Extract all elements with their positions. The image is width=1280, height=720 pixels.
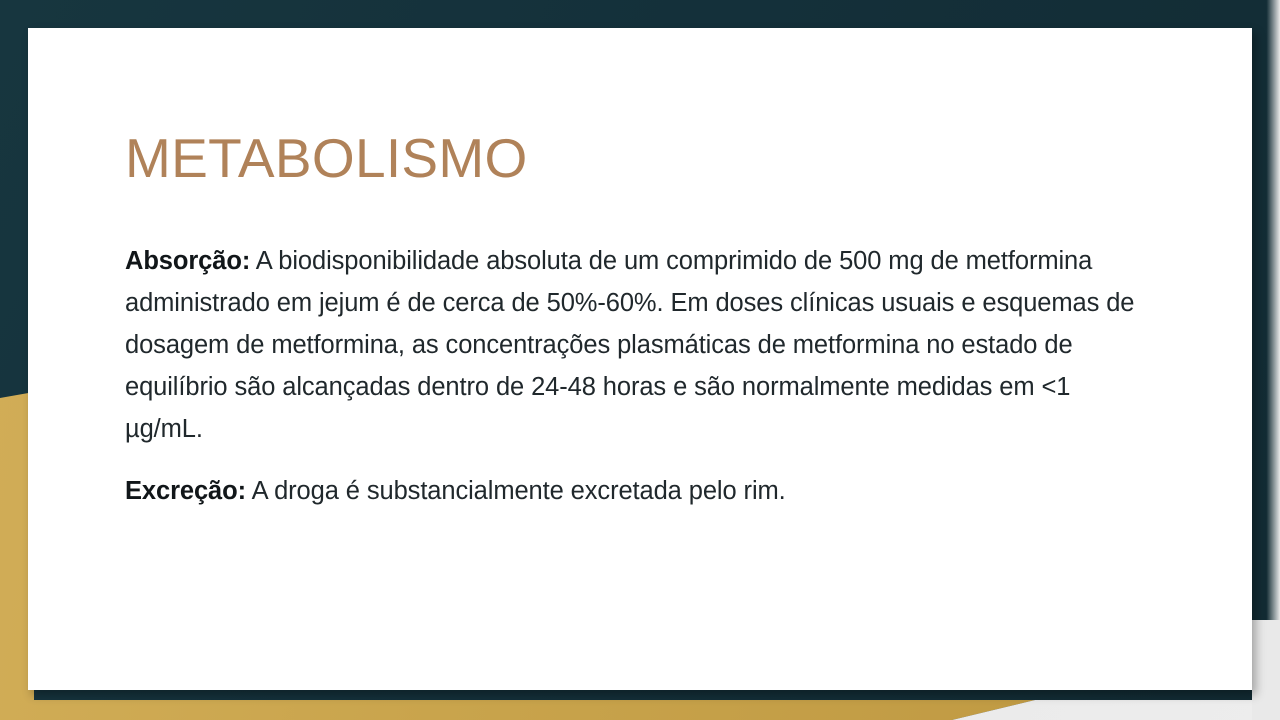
paragraph-absorcao: Absorção: A biodisponibilidade absoluta … (125, 240, 1135, 450)
paragraph-excrecao-label: Excreção: (125, 477, 246, 505)
slide-title: METABOLISMO (125, 130, 1160, 188)
slide-body: Absorção: A biodisponibilidade absoluta … (125, 240, 1135, 512)
slide-content-card: METABOLISMO Absorção: A biodisponibilida… (28, 28, 1252, 690)
presentation-slide: METABOLISMO Absorção: A biodisponibilida… (0, 0, 1280, 720)
slide-corner-gray-block (1252, 620, 1280, 720)
slide-edge-gray-right (1250, 0, 1280, 720)
slide-content-area: METABOLISMO Absorção: A biodisponibilida… (125, 130, 1160, 512)
paragraph-excrecao: Excreção: A droga é substancialmente exc… (125, 470, 1135, 512)
paragraph-absorcao-text: A biodisponibilidade absoluta de um comp… (125, 247, 1134, 443)
paragraph-excrecao-text: A droga é substancialmente excretada pel… (246, 477, 786, 505)
paragraph-absorcao-label: Absorção: (125, 247, 250, 275)
